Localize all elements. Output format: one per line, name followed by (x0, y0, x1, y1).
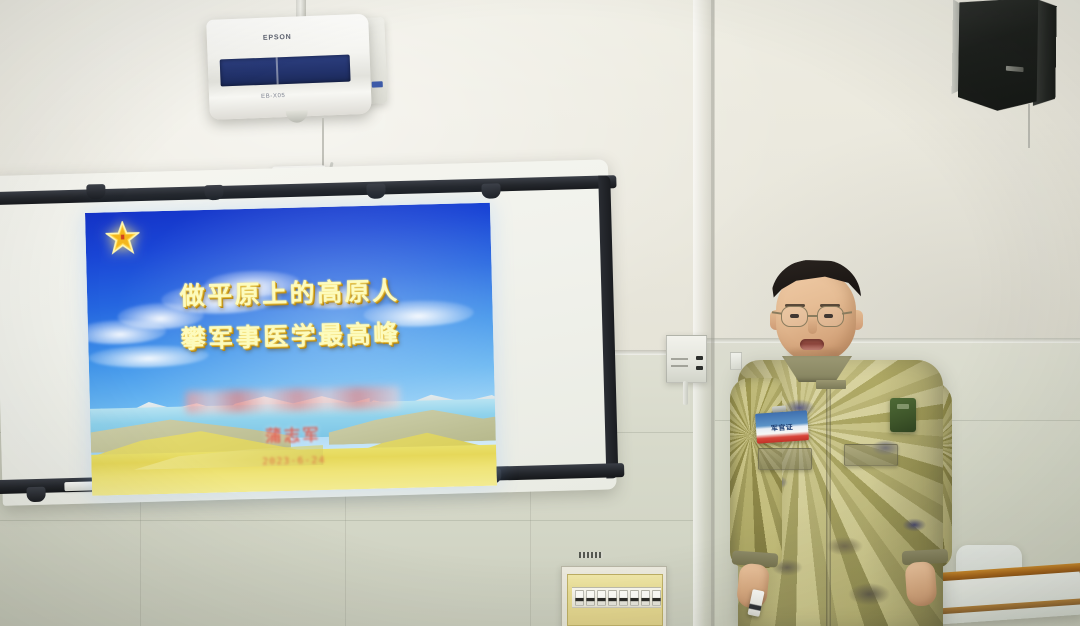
id-badge: 军官证 (755, 410, 809, 444)
projector-brand-label: EPSON (263, 34, 292, 42)
projector-model-label: EB-X05 (261, 93, 285, 100)
uniform-chest-pocket-right (844, 444, 898, 466)
electrical-panel-inner (567, 574, 663, 626)
control-box-led (696, 356, 703, 360)
wall-conduit (683, 381, 688, 405)
projected-slide: 做平原上的高原人 攀军事医学最高峰 蒲志军 2023-6-24 (85, 203, 497, 496)
circuit-breaker[interactable] (630, 590, 639, 606)
uniform-chest-pocket-left (758, 448, 812, 470)
whiteboard-clip (204, 185, 223, 201)
military-star-icon (105, 221, 140, 256)
control-box-slot (671, 358, 688, 360)
breaker-rail (572, 587, 661, 608)
uniform-chest-tab (816, 380, 846, 389)
circuit-breaker[interactable] (575, 590, 584, 606)
control-box-slot (671, 365, 688, 367)
glasses-lens-left (781, 306, 808, 327)
wall-control-box (666, 335, 707, 383)
id-badge-text: 军官证 (756, 421, 809, 435)
nose (808, 318, 817, 334)
electrical-panel[interactable] (561, 566, 667, 626)
lecture-room-scene: EPSON EB-X05 (0, 0, 1080, 626)
glasses-lens-right (817, 306, 844, 327)
whiteboard-clip (366, 183, 385, 199)
control-box-led (696, 366, 703, 370)
mouth-open-speaking (800, 339, 824, 350)
panel-sticker (579, 552, 603, 558)
whiteboard-clip (481, 183, 500, 199)
projector-port (372, 81, 383, 87)
shoulder-patch (890, 398, 916, 432)
circuit-breaker[interactable] (652, 590, 661, 606)
presenter-person: 军官证 (720, 252, 970, 626)
circuit-breaker[interactable] (641, 590, 650, 606)
projector-cable (322, 118, 324, 168)
circuit-breaker[interactable] (597, 590, 606, 606)
uniform-placket (826, 380, 831, 626)
hand-right (905, 561, 938, 607)
wall-speaker (958, 0, 1057, 124)
circuit-breaker[interactable] (586, 590, 595, 606)
glasses-bridge (807, 315, 817, 317)
speaker-cable (1028, 104, 1030, 148)
projector-vent (220, 55, 351, 87)
projector: EPSON EB-X05 (206, 10, 372, 124)
circuit-breaker[interactable] (608, 590, 617, 606)
whiteboard-clip (26, 487, 45, 503)
speaker-front-grille (958, 0, 1038, 116)
wall-pillar-edge (711, 0, 714, 626)
circuit-breaker[interactable] (619, 590, 628, 606)
whiteboard-clip (86, 184, 105, 200)
